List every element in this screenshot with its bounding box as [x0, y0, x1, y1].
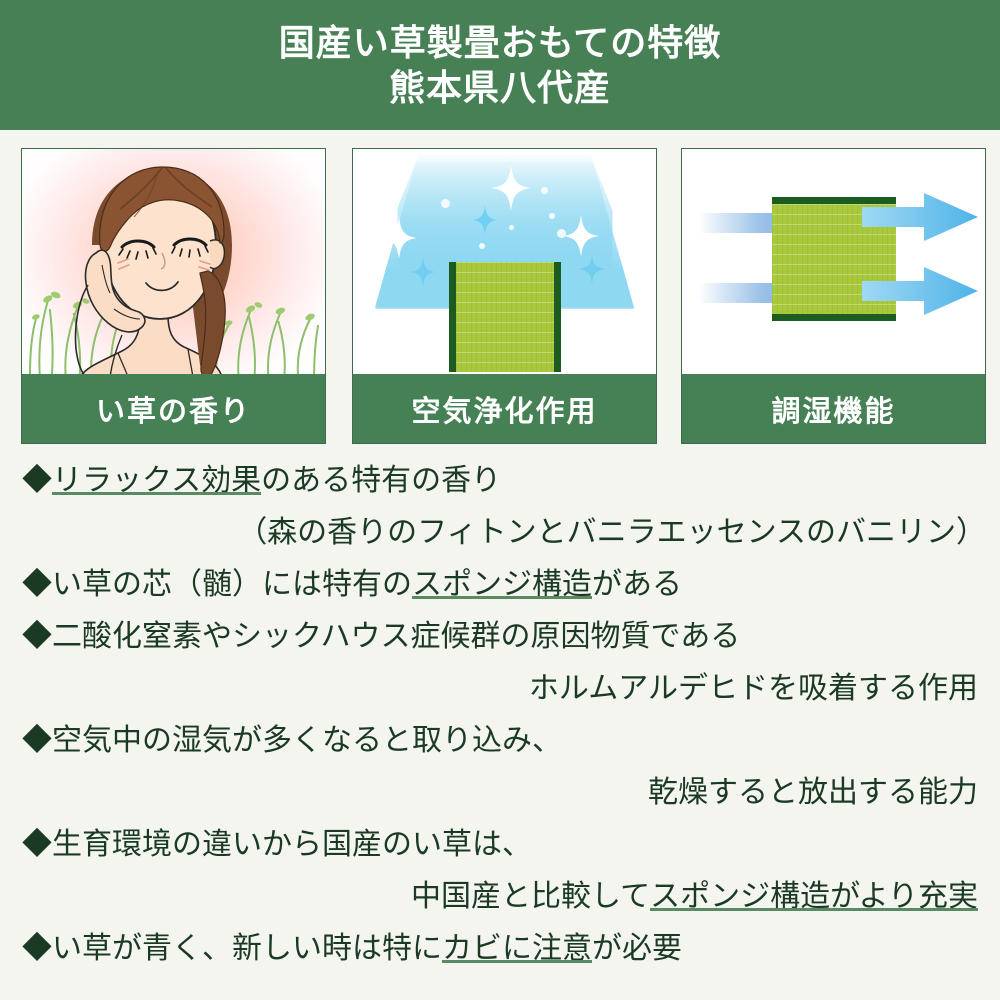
- arrow-out-icon: [862, 193, 978, 241]
- tatami-square: [449, 262, 561, 372]
- bullet-item: ◆空気中の湿気が多くなると取り込み、: [0, 715, 1000, 767]
- bullet-text: のある特有の香り: [261, 464, 501, 497]
- header-title-line1: 国産い草製畳おもての特徴: [279, 20, 722, 65]
- sparkle-icon: [579, 253, 605, 285]
- bullet-text: 生育環境の違いから国産のい草は、: [52, 828, 532, 861]
- bullet-continuation-text: （森の香りのフィトンとバニラエッセンスのバニリン）: [237, 516, 986, 549]
- infographic-page: 国産い草製畳おもての特徴 熊本県八代産: [0, 0, 1000, 1000]
- bubble-dot: [509, 225, 514, 230]
- bullet-marker: ◆: [22, 932, 52, 965]
- card-label-air-purification: 空気浄化作用: [352, 374, 657, 445]
- feature-cards: い草の香り: [0, 148, 1000, 446]
- woman-figure-icon: [22, 149, 325, 377]
- feature-card-humidity[interactable]: 調湿機能: [681, 148, 986, 444]
- bullet-highlight: スポンジ構造: [412, 568, 592, 601]
- bubble-dot: [541, 187, 548, 194]
- sparkle-icon: [411, 257, 435, 287]
- bullet-continuation-text: ホルムアルデヒドを吸着する作用: [529, 672, 978, 705]
- bubble-dot: [441, 199, 450, 208]
- bullet-marker: ◆: [22, 724, 52, 757]
- bullet-continuation: 乾燥すると放出する能力: [0, 767, 1000, 819]
- feature-card-air-purification[interactable]: 空気浄化作用: [352, 148, 657, 444]
- bubble-dot: [549, 213, 555, 219]
- bullet-item: ◆い草の芯（髄）には特有のスポンジ構造がある: [0, 559, 1000, 611]
- bullet-text: い草の芯（髄）には特有の: [52, 568, 412, 601]
- bullet-continuation: 中国産と比較してスポンジ構造がより充実: [0, 871, 1000, 923]
- feature-bullet-list: ◆リラックス効果のある特有の香り （森の香りのフィトンとバニラエッセンスのバニリ…: [0, 455, 1000, 975]
- bullet-highlight: リラックス効果: [52, 464, 261, 497]
- bullet-text: い草が青く、新しい時は特に: [52, 932, 442, 965]
- arrow-out-icon: [862, 267, 978, 315]
- scent-illustration: [22, 149, 325, 377]
- sparkle-icon: [473, 205, 497, 235]
- sparkle-icon: [563, 215, 599, 257]
- bullet-continuation-text: 乾燥すると放出する能力: [648, 776, 978, 809]
- page-header: 国産い草製畳おもての特徴 熊本県八代産: [0, 0, 1000, 130]
- bullet-highlight: スポンジ構造がより充実: [650, 880, 978, 913]
- header-title-line2: 熊本県八代産: [389, 65, 611, 110]
- bullet-marker: ◆: [22, 828, 52, 861]
- air-purification-illustration: [353, 149, 656, 377]
- bullet-item: ◆生育環境の違いから国産のい草は、: [0, 819, 1000, 871]
- bullet-marker: ◆: [22, 568, 52, 601]
- card-label-scent: い草の香り: [21, 374, 326, 445]
- bullet-item: ◆い草が青く、新しい時は特にカビに注意が必要: [0, 923, 1000, 975]
- bullet-text: がある: [592, 568, 682, 601]
- bullet-highlight: カビに注意: [442, 932, 592, 965]
- card-label-humidity: 調湿機能: [681, 374, 986, 445]
- sparkle-icon: [491, 165, 531, 211]
- bullet-text: が必要: [592, 932, 682, 965]
- bullet-continuation: （森の香りのフィトンとバニラエッセンスのバニリン）: [0, 507, 1000, 559]
- bullet-text: 二酸化窒素やシックハウス症候群の原因物質である: [52, 620, 740, 653]
- sparkle-icon: [381, 217, 417, 259]
- humidity-illustration: [682, 149, 985, 377]
- bullet-marker: ◆: [22, 464, 52, 497]
- bullet-item: ◆二酸化窒素やシックハウス症候群の原因物質である: [0, 611, 1000, 663]
- bullet-item: ◆リラックス効果のある特有の香り: [0, 455, 1000, 507]
- bullet-marker: ◆: [22, 620, 52, 653]
- bullet-continuation-text: 中国産と比較して: [411, 880, 650, 913]
- bubble-dot: [479, 243, 485, 249]
- feature-card-scent[interactable]: い草の香り: [21, 148, 326, 444]
- bullet-continuation: ホルムアルデヒドを吸着する作用: [0, 663, 1000, 715]
- bullet-text: 空気中の湿気が多くなると取り込み、: [52, 724, 562, 757]
